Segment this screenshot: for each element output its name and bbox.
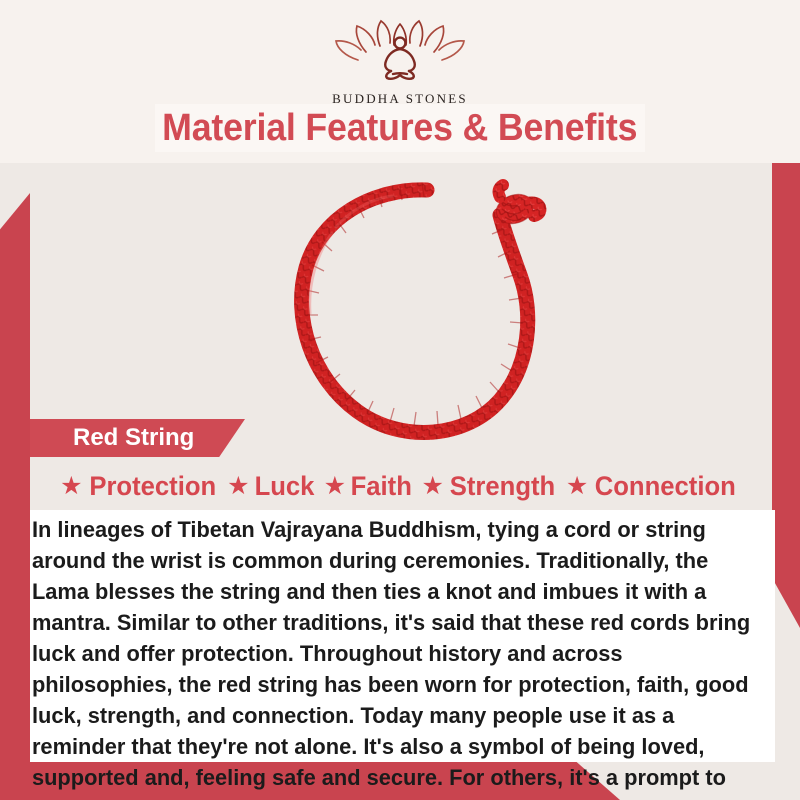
lotus-meditation-icon xyxy=(0,16,800,89)
feature-label: Strength xyxy=(450,471,555,502)
feature-label: Connection xyxy=(595,471,736,502)
feature-label: Faith xyxy=(351,471,412,502)
star-icon: ★ xyxy=(60,474,82,499)
star-icon: ★ xyxy=(566,474,588,499)
feature-item-faith: ★ Faith xyxy=(324,471,414,502)
star-icon: ★ xyxy=(227,474,249,499)
description-text: In lineages of Tibetan Vajrayana Buddhis… xyxy=(30,510,753,800)
feature-item-protection: ★ Protection xyxy=(60,471,219,502)
brand-logo: BUDDHA STONES xyxy=(0,16,800,107)
feature-item-strength: ★ Strength xyxy=(421,471,557,502)
page-title: Material Features & Benefits xyxy=(155,104,645,152)
star-icon: ★ xyxy=(324,474,346,499)
header: BUDDHA STONES Material Features & Benefi… xyxy=(0,0,800,163)
feature-item-luck: ★ Luck xyxy=(227,471,315,502)
description-panel: In lineages of Tibetan Vajrayana Buddhis… xyxy=(30,510,775,762)
feature-label: Protection xyxy=(89,471,216,502)
feature-list: ★ Protection ★ Luck ★ Faith ★ Strength ★… xyxy=(0,465,800,507)
red-braided-cord-bracelet xyxy=(272,163,572,463)
feature-label: Luck xyxy=(254,471,314,502)
infographic-page: BUDDHA STONES Material Features & Benefi… xyxy=(0,0,800,800)
star-icon: ★ xyxy=(421,474,443,499)
product-label-banner: Red String xyxy=(30,419,245,457)
product-label-text: Red String xyxy=(73,424,194,452)
feature-item-connection: ★ Connection xyxy=(566,471,740,502)
page-title-text: Material Features & Benefits xyxy=(162,107,637,150)
product-image-area xyxy=(0,163,800,423)
